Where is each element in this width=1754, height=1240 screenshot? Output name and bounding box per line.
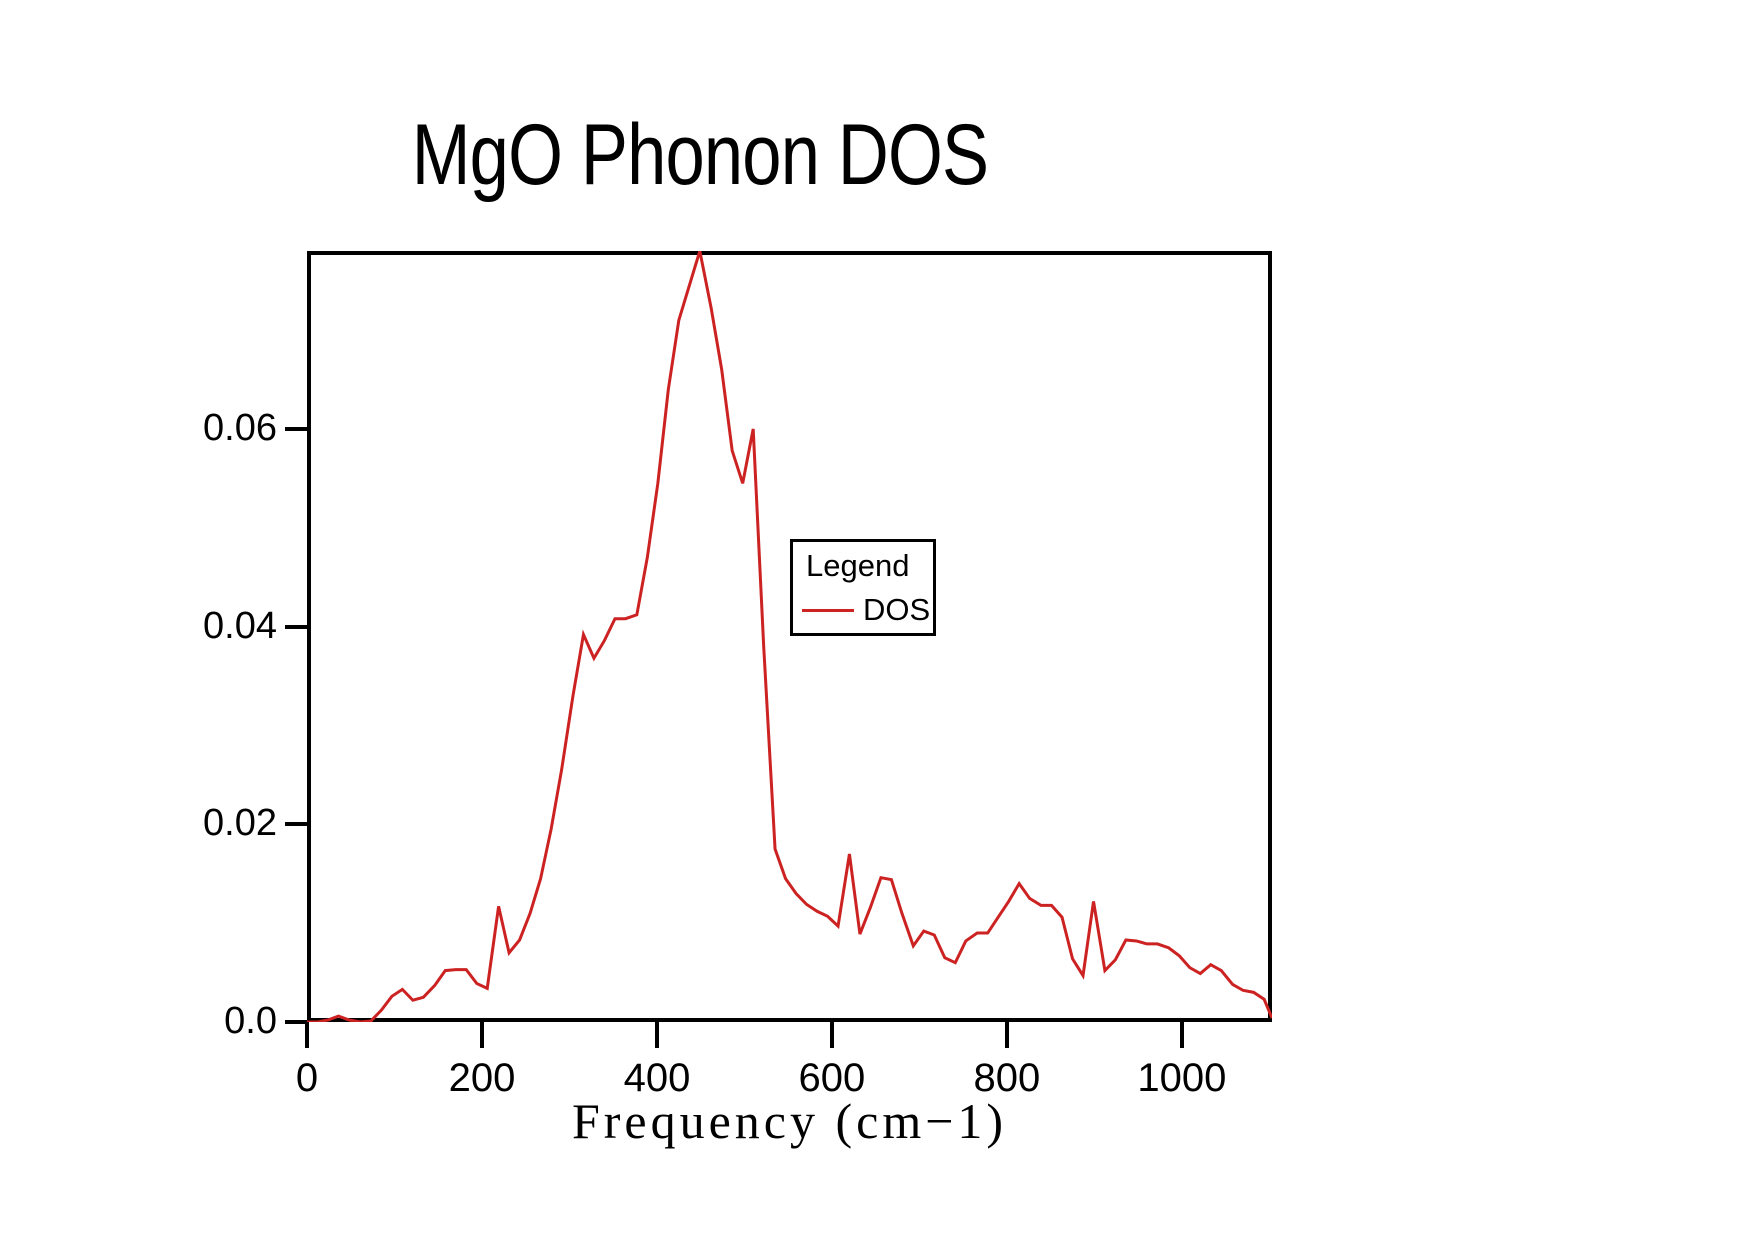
y-tick-label: 0.02 [167, 802, 277, 845]
y-tick-label: 0.0 [167, 1000, 277, 1043]
y-tick-label: 0.04 [167, 605, 277, 648]
x-tick-mark [480, 1022, 484, 1048]
legend-line-swatch [802, 609, 854, 612]
y-tick-label: 0.06 [167, 407, 277, 450]
dos-data-line [307, 251, 1272, 1022]
y-tick-mark [285, 822, 307, 826]
legend-title: Legend [806, 548, 909, 584]
x-tick-mark [1005, 1022, 1009, 1048]
chart-figure: MgO Phonon DOS 0.00.020.040.06 020040060… [0, 0, 1754, 1240]
x-axis-title: Frequency (cm−1) [307, 1092, 1272, 1150]
x-tick-mark [1180, 1022, 1184, 1048]
y-tick-mark [285, 1020, 307, 1024]
page-title: MgO Phonon DOS [126, 112, 1274, 198]
y-tick-mark [285, 625, 307, 629]
legend-item-label: DOS [863, 592, 930, 628]
x-tick-mark [830, 1022, 834, 1048]
y-tick-mark [285, 427, 307, 431]
x-tick-mark [305, 1022, 309, 1048]
legend[interactable]: Legend DOS [790, 539, 936, 636]
legend-item-dos[interactable]: DOS [802, 592, 930, 628]
plot-canvas [307, 251, 1272, 1022]
x-tick-mark [655, 1022, 659, 1048]
